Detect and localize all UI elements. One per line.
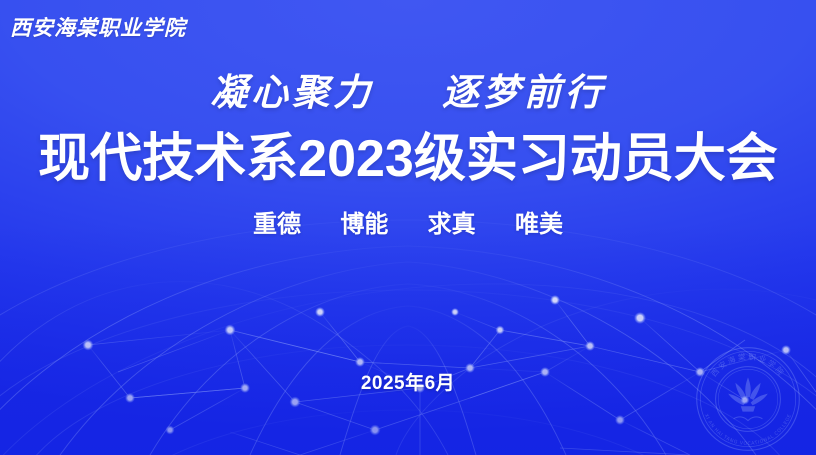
- svg-text:XI AN HAI TANG VOCATIONAL COLL: XI AN HAI TANG VOCATIONAL COLLEGE: [703, 413, 793, 447]
- slogan-left: 凝心聚力: [210, 70, 374, 114]
- presentation-slide: 西安海棠职业学院 XI AN HAI TANG VOCATIONAL COLLE…: [0, 0, 816, 455]
- seal-bottom-arc-text: XI AN HAI TANG VOCATIONAL COLLEGE: [703, 413, 793, 447]
- motto-item-4: 唯美: [515, 211, 563, 238]
- motto-line: 重德 博能 求真 唯美: [0, 211, 816, 240]
- slogan-right: 逐梦前行: [442, 70, 606, 114]
- motto-item-1: 重德: [253, 211, 301, 238]
- bottom-vignette: [0, 225, 816, 455]
- slide-date: 2025年6月: [0, 368, 816, 395]
- headline-block: 凝心聚力 逐梦前行 现代技术系2023级实习动员大会 重德 博能 求真 唯美: [0, 72, 816, 239]
- network-nodes: [83, 295, 792, 436]
- page-title: 现代技术系2023级实习动员大会: [0, 132, 816, 186]
- institution-logo: 西安海棠职业学院: [10, 12, 186, 42]
- motto-item-2: 博能: [340, 211, 388, 238]
- college-seal-watermark: 西安海棠职业学院 XI AN HAI TANG VOCATIONAL COLLE…: [694, 345, 802, 453]
- slogan-line: 凝心聚力 逐梦前行: [0, 72, 816, 113]
- motto-item-3: 求真: [428, 211, 476, 238]
